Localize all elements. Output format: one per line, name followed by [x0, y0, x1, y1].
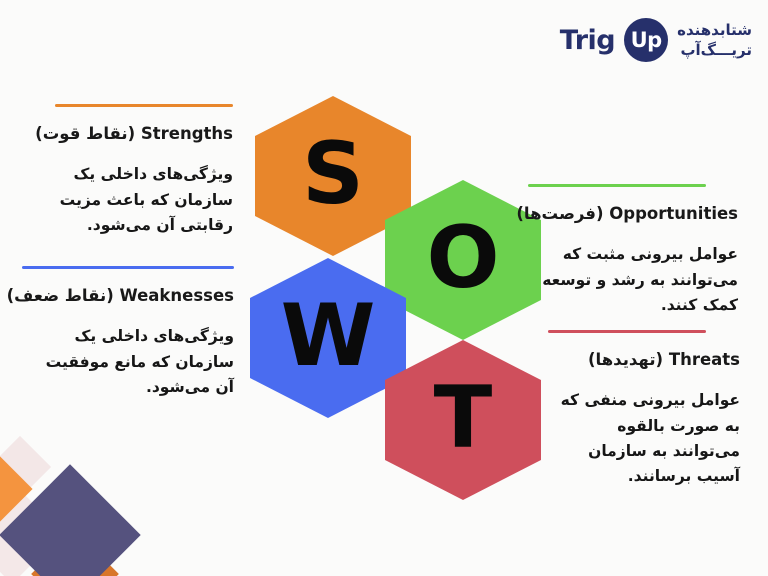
hexagon-letter-w: W: [281, 293, 376, 379]
logo-persian-line-1: شتابدهنده: [677, 20, 752, 40]
decor-diamond-orange-dark: [31, 530, 119, 576]
logo-persian-line-2: تریـــگ‌آپ: [677, 40, 752, 60]
hexagon-letter-o: O: [426, 215, 499, 301]
hexagon-letter-t: T: [434, 375, 493, 461]
decor-diamond-orange-light: [0, 432, 33, 545]
decorative-diamonds: [0, 435, 180, 576]
panel-threats: Threats (تهدیدها) عوامل بیرونی منفی که ب…: [548, 330, 740, 489]
accent-rule-threats: [548, 330, 706, 333]
heading-weaknesses: Weaknesses (نقاط ضعف): [22, 285, 234, 306]
logo-persian-text: شتابدهنده تریـــگ‌آپ: [677, 20, 752, 61]
accent-rule-weaknesses: [22, 266, 234, 269]
decor-diamond-navy: [0, 464, 141, 576]
brand-logo: Trig Up شتابدهنده تریـــگ‌آپ: [560, 18, 754, 62]
heading-strengths: Strengths (نقاط قوت): [55, 123, 233, 144]
logo-wordmark: Trig: [560, 27, 615, 54]
body-strengths: ویژگی‌های داخلی یک سازمان که باعث مزیت ر…: [55, 162, 233, 237]
accent-rule-strengths: [55, 104, 233, 107]
hexagon-weaknesses: W: [250, 258, 406, 418]
hexagon-letter-s: S: [302, 131, 364, 217]
panel-opportunities: Opportunities (فرصت‌ها) عوامل بیرونی مثب…: [528, 184, 738, 318]
hexagon-threats: T: [385, 340, 541, 500]
panel-strengths: Strengths (نقاط قوت) ویژگی‌های داخلی یک …: [55, 104, 233, 238]
swot-infographic: Trig Up شتابدهنده تریـــگ‌آپ S O W T Str…: [0, 0, 768, 576]
decor-diamond-pink-large: [0, 482, 63, 576]
body-weaknesses: ویژگی‌های داخلی یک سازمان که مانع موفقیت…: [22, 324, 234, 399]
body-opportunities: عوامل بیرونی مثبت که می‌توانند به رشد و …: [528, 242, 738, 317]
logo-badge-icon: Up: [624, 18, 668, 62]
decor-diamond-pink-small: [0, 436, 51, 498]
heading-opportunities: Opportunities (فرصت‌ها): [528, 203, 738, 224]
panel-weaknesses: Weaknesses (نقاط ضعف) ویژگی‌های داخلی یک…: [22, 266, 234, 400]
body-threats: عوامل بیرونی منفی که به صورت بالقوه می‌ت…: [548, 388, 740, 488]
accent-rule-opportunities: [528, 184, 706, 187]
heading-threats: Threats (تهدیدها): [548, 349, 740, 370]
